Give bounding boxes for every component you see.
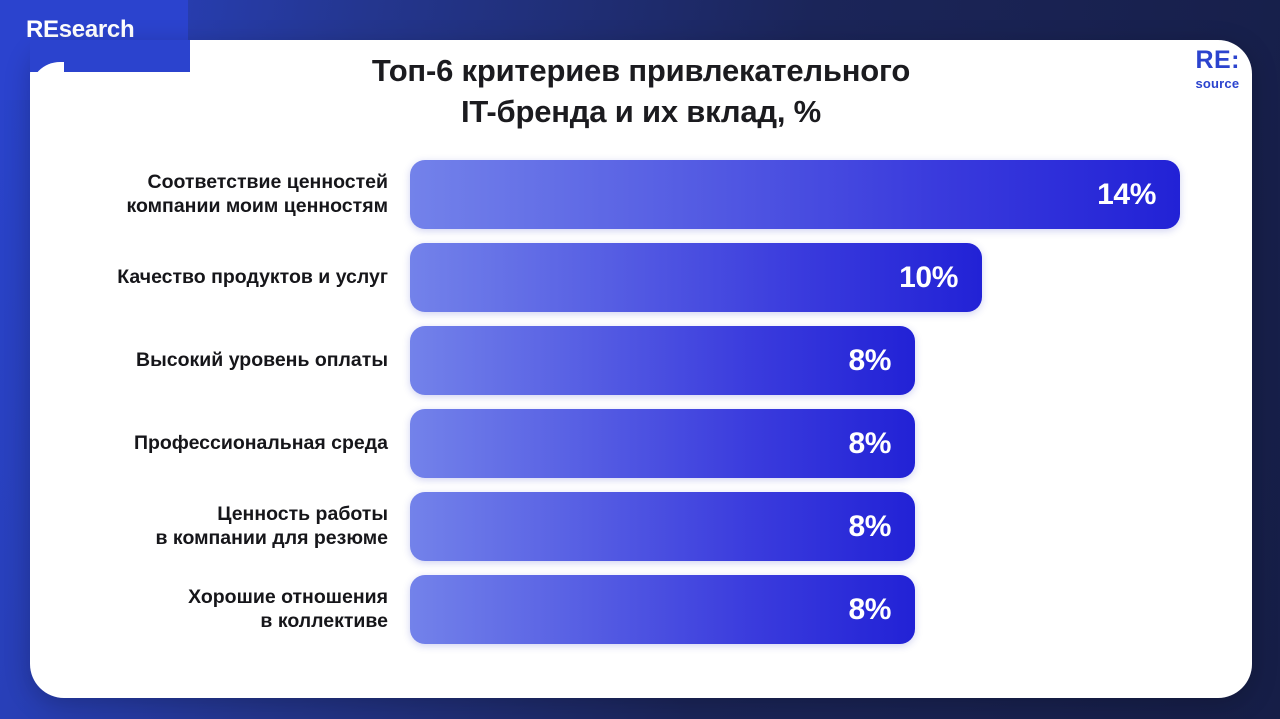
bar-track: 8% — [410, 492, 1252, 561]
bar-track: 10% — [410, 243, 1252, 312]
bar[interactable]: 8% — [410, 409, 915, 478]
chart-row: Ценность работы в компании для резюме 8% — [30, 492, 1252, 561]
chart-row: Профессиональная среда 8% — [30, 409, 1252, 478]
horizontal-bar-chart: Соответствие ценностей компании моим цен… — [30, 160, 1252, 644]
logo-primary-text: RE: — [1195, 48, 1240, 73]
bar-value-label: 10% — [899, 261, 982, 295]
bar-track: 8% — [410, 409, 1252, 478]
page-title-line-2: IT-бренда и их вклад, % — [30, 91, 1252, 132]
bar-value-label: 8% — [848, 344, 915, 378]
bar[interactable]: 8% — [410, 326, 915, 395]
bar[interactable]: 8% — [410, 492, 915, 561]
bar-track: 8% — [410, 326, 1252, 395]
bar-value-label: 14% — [1097, 178, 1180, 212]
infographic-slide: REsearch RE: source Топ-6 критериев прив… — [0, 0, 1280, 719]
category-label: Соответствие ценностей компании моим цен… — [30, 171, 410, 219]
category-label: Высокий уровень оплаты — [30, 349, 410, 373]
category-label: Ценность работы в компании для резюме — [30, 503, 410, 551]
bar-value-label: 8% — [848, 427, 915, 461]
category-label: Хорошие отношения в коллективе — [30, 586, 410, 634]
logo-secondary-text: source — [1195, 77, 1240, 90]
bar-value-label: 8% — [848, 510, 915, 544]
bar[interactable]: 10% — [410, 243, 982, 312]
bar[interactable]: 14% — [410, 160, 1180, 229]
chart-row: Хорошие отношения в коллективе 8% — [30, 575, 1252, 644]
category-label: Качество продуктов и услуг — [30, 266, 410, 290]
bar[interactable]: 8% — [410, 575, 915, 644]
page-title: Топ-6 критериев привлекательного IT-брен… — [30, 50, 1252, 132]
chart-row: Соответствие ценностей компании моим цен… — [30, 160, 1252, 229]
chart-row: Высокий уровень оплаты 8% — [30, 326, 1252, 395]
category-label: Профессиональная среда — [30, 432, 410, 456]
chart-row: Качество продуктов и услуг 10% — [30, 243, 1252, 312]
page-title-line-1: Топ-6 критериев привлекательного — [30, 50, 1252, 91]
resource-logo: RE: source — [1195, 48, 1240, 90]
bar-track: 8% — [410, 575, 1252, 644]
bar-track: 14% — [410, 160, 1252, 229]
bar-value-label: 8% — [848, 593, 915, 627]
